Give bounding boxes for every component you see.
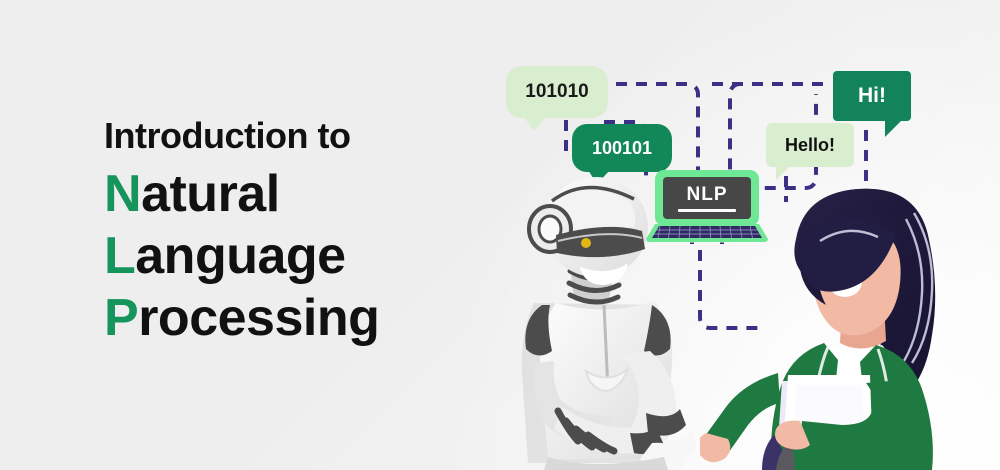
bubble-tail (524, 117, 546, 131)
speech-bubble-binary-left-text: 101010 (525, 81, 588, 103)
speech-bubble-hello-text: Hello! (785, 135, 835, 156)
speech-bubble-binary-left: 101010 (506, 66, 608, 118)
nlp-banner: Introduction to Natural Language Process… (0, 0, 1000, 470)
speech-bubble-binary-mid-text: 100101 (592, 138, 652, 159)
speech-bubble-hello: Hello! (766, 123, 854, 167)
woman-character (700, 185, 1000, 470)
speech-bubble-hi: Hi! (833, 71, 911, 121)
bubble-tail (885, 119, 903, 137)
bubble-tail (776, 165, 791, 180)
speech-bubble-binary-mid: 100101 (572, 124, 672, 172)
robot-character (500, 175, 730, 470)
speech-bubble-hi-text: Hi! (858, 84, 886, 108)
